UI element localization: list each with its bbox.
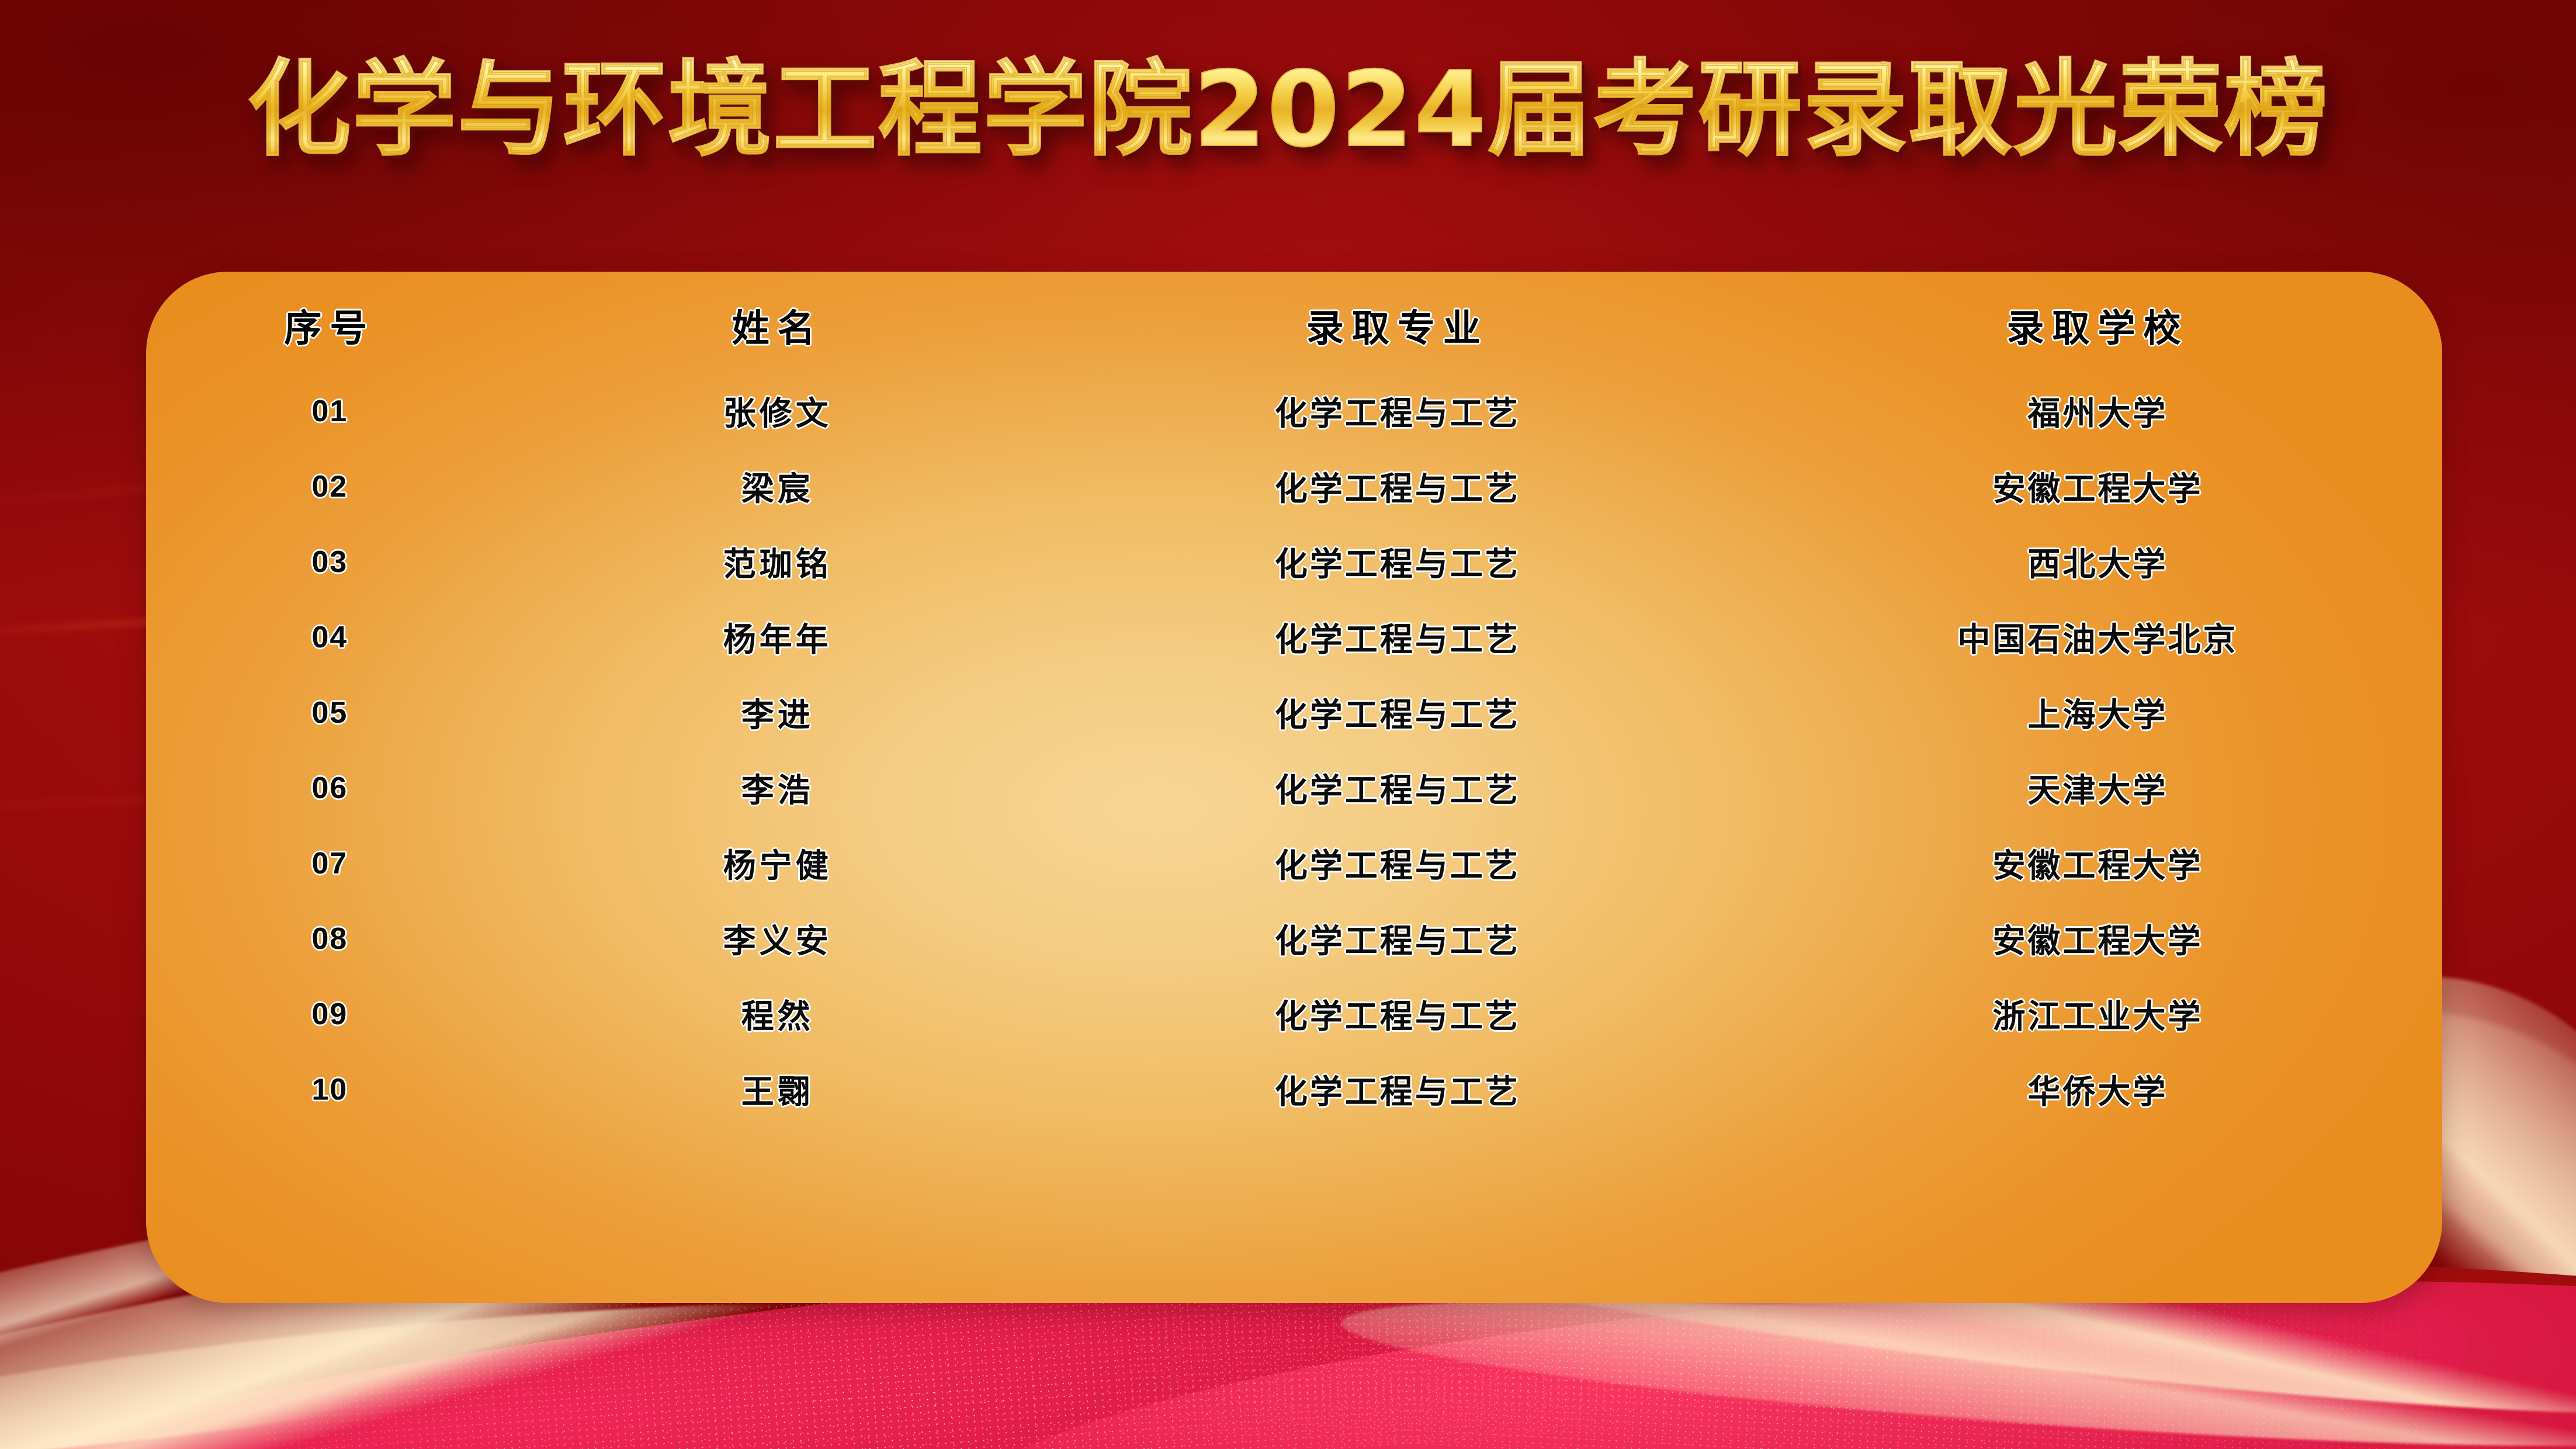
- table-row: 07 杨宁健 化学工程与工艺 安徽工程大学: [146, 826, 2442, 901]
- cell-index: 10: [146, 1052, 514, 1127]
- cell-major: 化学工程与工艺: [1042, 826, 1753, 901]
- cell-name: 李浩: [514, 750, 1042, 826]
- cell-major: 化学工程与工艺: [1042, 599, 1753, 675]
- cell-name: 梁宸: [514, 449, 1042, 524]
- cell-name: 李义安: [514, 901, 1042, 976]
- cell-index: 02: [146, 449, 514, 524]
- cell-school: 安徽工程大学: [1753, 901, 2442, 976]
- cell-major: 化学工程与工艺: [1042, 449, 1753, 524]
- table-row: 03 范珈铭 化学工程与工艺 西北大学: [146, 524, 2442, 599]
- column-header-index: 序号: [146, 272, 514, 373]
- cell-major: 化学工程与工艺: [1042, 901, 1753, 976]
- cell-name: 张修文: [514, 373, 1042, 449]
- column-header-name: 姓名: [514, 272, 1042, 373]
- table-row: 02 梁宸 化学工程与工艺 安徽工程大学: [146, 449, 2442, 524]
- cell-school: 天津大学: [1753, 750, 2442, 826]
- cell-index: 09: [146, 976, 514, 1052]
- cell-school: 华侨大学: [1753, 1052, 2442, 1127]
- poster-title-text: 化学与环境工程学院2024届考研录取光荣榜: [247, 54, 2329, 166]
- cell-name: 杨年年: [514, 599, 1042, 675]
- cell-name: 王翾: [514, 1052, 1042, 1127]
- cell-major: 化学工程与工艺: [1042, 373, 1753, 449]
- table-row: 09 程然 化学工程与工艺 浙江工业大学: [146, 976, 2442, 1052]
- cell-major: 化学工程与工艺: [1042, 524, 1753, 599]
- table-row: 08 李义安 化学工程与工艺 安徽工程大学: [146, 901, 2442, 976]
- poster-title: 化学与环境工程学院2024届考研录取光荣榜: [0, 54, 2576, 166]
- cell-name: 杨宁健: [514, 826, 1042, 901]
- admission-list-panel: 序号 姓名 录取专业 录取学校 01 张修文 化学工程与工艺 福州大学 02 梁…: [146, 272, 2442, 1303]
- table-header-row: 序号 姓名 录取专业 录取学校: [146, 272, 2442, 373]
- table-row: 10 王翾 化学工程与工艺 华侨大学: [146, 1052, 2442, 1127]
- cell-school: 安徽工程大学: [1753, 449, 2442, 524]
- table-body: 01 张修文 化学工程与工艺 福州大学 02 梁宸 化学工程与工艺 安徽工程大学…: [146, 373, 2442, 1127]
- cell-school: 安徽工程大学: [1753, 826, 2442, 901]
- cell-school: 中国石油大学北京: [1753, 599, 2442, 675]
- cell-major: 化学工程与工艺: [1042, 976, 1753, 1052]
- table-row: 04 杨年年 化学工程与工艺 中国石油大学北京: [146, 599, 2442, 675]
- cell-index: 01: [146, 373, 514, 449]
- cell-index: 04: [146, 599, 514, 675]
- table-head: 序号 姓名 录取专业 录取学校: [146, 272, 2442, 373]
- cell-index: 03: [146, 524, 514, 599]
- column-header-school: 录取学校: [1753, 272, 2442, 373]
- cell-index: 06: [146, 750, 514, 826]
- admission-table: 序号 姓名 录取专业 录取学校 01 张修文 化学工程与工艺 福州大学 02 梁…: [146, 272, 2442, 1127]
- cell-school: 福州大学: [1753, 373, 2442, 449]
- cell-name: 程然: [514, 976, 1042, 1052]
- cell-school: 上海大学: [1753, 675, 2442, 750]
- table-row: 06 李浩 化学工程与工艺 天津大学: [146, 750, 2442, 826]
- cell-name: 范珈铭: [514, 524, 1042, 599]
- column-header-major: 录取专业: [1042, 272, 1753, 373]
- table-row: 01 张修文 化学工程与工艺 福州大学: [146, 373, 2442, 449]
- cell-index: 08: [146, 901, 514, 976]
- cell-school: 西北大学: [1753, 524, 2442, 599]
- table-row: 05 李进 化学工程与工艺 上海大学: [146, 675, 2442, 750]
- cell-name: 李进: [514, 675, 1042, 750]
- cell-index: 05: [146, 675, 514, 750]
- cell-major: 化学工程与工艺: [1042, 675, 1753, 750]
- cell-major: 化学工程与工艺: [1042, 1052, 1753, 1127]
- cell-major: 化学工程与工艺: [1042, 750, 1753, 826]
- cell-school: 浙江工业大学: [1753, 976, 2442, 1052]
- cell-index: 07: [146, 826, 514, 901]
